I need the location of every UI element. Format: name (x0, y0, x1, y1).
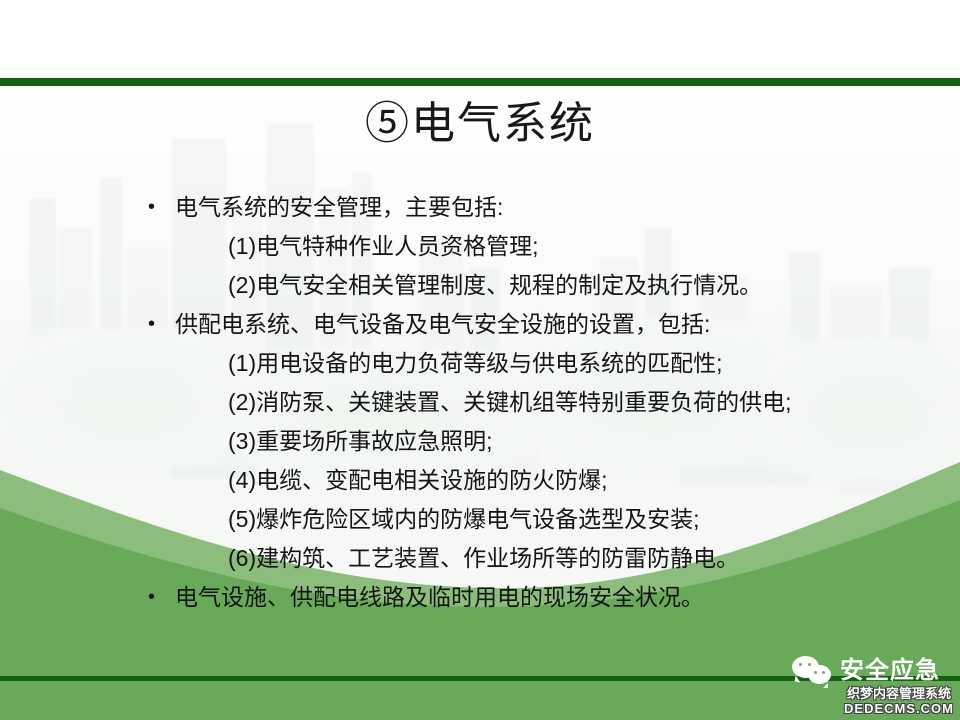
wechat-eye (799, 663, 802, 666)
wechat-account-logo: 安全应急 (792, 652, 952, 690)
wechat-icon (792, 655, 836, 687)
sub-line: (6)建构筑、工艺装置、作业场所等的防雷防静电。 (0, 539, 960, 578)
sub-line: (4)电缆、变配电相关设施的防火防爆; (0, 461, 960, 500)
sub-line: (2)消防泵、关键装置、关键机组等特别重要负荷的供电; (0, 383, 960, 422)
sub-line: (3)重要场所事故应急照明; (0, 422, 960, 461)
sub-line: (5)爆炸危险区域内的防爆电气设备选型及安装; (0, 500, 960, 539)
wechat-bubble-small (808, 665, 831, 684)
bullet-text: 供配电系统、电气设备及电气安全设施的设置，包括: (148, 305, 710, 344)
bullet-marker: • (148, 305, 175, 344)
sub-line: (1)电气特种作业人员资格管理; (0, 227, 960, 266)
bullet-marker: • (148, 188, 175, 227)
site-watermark: 织梦内容管理系统 DEDECMS.COM (838, 686, 960, 716)
bullet-text: 电气设施、供配电线路及临时用电的现场安全状况。 (148, 578, 704, 617)
bullet-line: • 电气系统的安全管理，主要包括: (0, 188, 960, 227)
watermark-chinese-text: 织梦内容管理系统 (838, 686, 960, 701)
bullet-line: • 电气设施、供配电线路及临时用电的现场安全状况。 (0, 578, 960, 617)
header-divider-rule (0, 78, 960, 86)
bullet-line: • 供配电系统、电气设备及电气安全设施的设置，包括: (0, 305, 960, 344)
bullet-marker: • (148, 578, 175, 617)
sub-line: (2)电气安全相关管理制度、规程的制定及执行情况。 (0, 266, 960, 305)
slide-title: ⑤电气系统 (0, 96, 960, 152)
wechat-eye (808, 663, 811, 666)
bullet-text: 电气系统的安全管理，主要包括: (148, 188, 503, 227)
wechat-account-name: 安全应急 (840, 656, 940, 686)
sub-line: (1)用电设备的电力负荷等级与供电系统的匹配性; (0, 344, 960, 383)
presentation-slide: ⑤电气系统 • 电气系统的安全管理，主要包括: (1)电气特种作业人员资格管理;… (0, 0, 960, 720)
wechat-eye (822, 671, 825, 674)
watermark-domain-text: DEDECMS.COM (838, 701, 960, 716)
wechat-eye (814, 671, 817, 674)
slide-body: • 电气系统的安全管理，主要包括: (1)电气特种作业人员资格管理; (2)电气… (0, 188, 960, 617)
